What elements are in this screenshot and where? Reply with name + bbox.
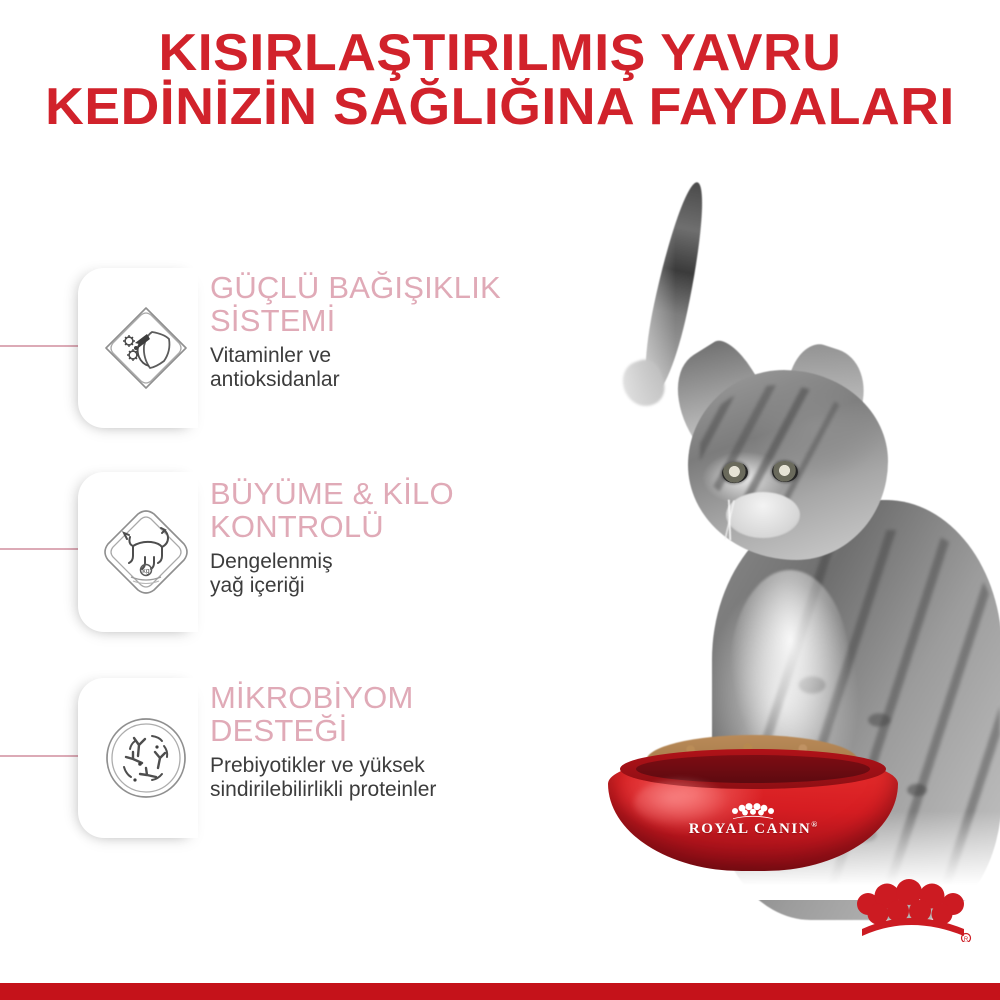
bowl-brand-name: ROYAL CANIN <box>689 821 811 838</box>
title-line-1: KISIRLAŞTIRILMIŞ YAVRU <box>0 28 1000 78</box>
title-line-2: KEDİNİZİN SAĞLIĞINA FAYDALARI <box>0 82 1000 132</box>
royal-canin-crown-logo: R <box>854 868 972 942</box>
bowl-brand-lockup: ROYAL CANIN® <box>608 803 898 838</box>
svg-text:kg: kg <box>142 568 150 575</box>
benefit-subtitle-3: Prebiyotikler ve yüksek sindirilebilirli… <box>210 754 560 802</box>
benefit-card-3 <box>78 678 198 838</box>
connector-line-2 <box>0 548 88 550</box>
cat-weight-scale-icon: kg <box>100 506 192 598</box>
royal-canin-crown-icon <box>730 803 776 819</box>
benefit-card-2: kg <box>78 472 198 632</box>
benefit-text-2: BÜYÜME & KİLO KONTROLÜ Dengelenmiş yağ i… <box>210 478 540 598</box>
benefit-subtitle-2: Dengelenmiş yağ içeriği <box>210 550 540 598</box>
bowl-brand-trademark: ® <box>811 820 817 829</box>
benefit-heading-2: BÜYÜME & KİLO KONTROLÜ <box>210 478 540 544</box>
advertisement-canvas: KISIRLAŞTIRILMIŞ YAVRU KEDİNİZİN SAĞLIĞI… <box>0 0 1000 1000</box>
brand-trademark: R <box>964 937 969 942</box>
benefit-text-3: MİKROBİYOM DESTEĞİ Prebiyotikler ve yüks… <box>210 682 560 802</box>
benefit-card-1 <box>78 268 198 428</box>
connector-line-3 <box>0 755 88 757</box>
connector-line-1 <box>0 345 88 347</box>
benefit-text-1: GÜÇLÜ BAĞIŞIKLIK SİSTEMİ Vitaminler ve a… <box>210 272 540 392</box>
microbiome-petri-dish-icon <box>100 712 192 804</box>
bottom-red-bar <box>0 983 1000 1000</box>
cat-head-stripes <box>700 385 860 505</box>
page-title: KISIRLAŞTIRILMIŞ YAVRU KEDİNİZİN SAĞLIĞI… <box>0 28 1000 133</box>
benefit-heading-1: GÜÇLÜ BAĞIŞIKLIK SİSTEMİ <box>210 272 540 338</box>
shield-immunity-icon <box>100 302 192 394</box>
benefit-subtitle-1: Vitaminler ve antioksidanlar <box>210 344 540 392</box>
benefit-heading-3: MİKROBİYOM DESTEĞİ <box>210 682 560 748</box>
food-bowl: ROYAL CANIN® <box>608 735 898 875</box>
